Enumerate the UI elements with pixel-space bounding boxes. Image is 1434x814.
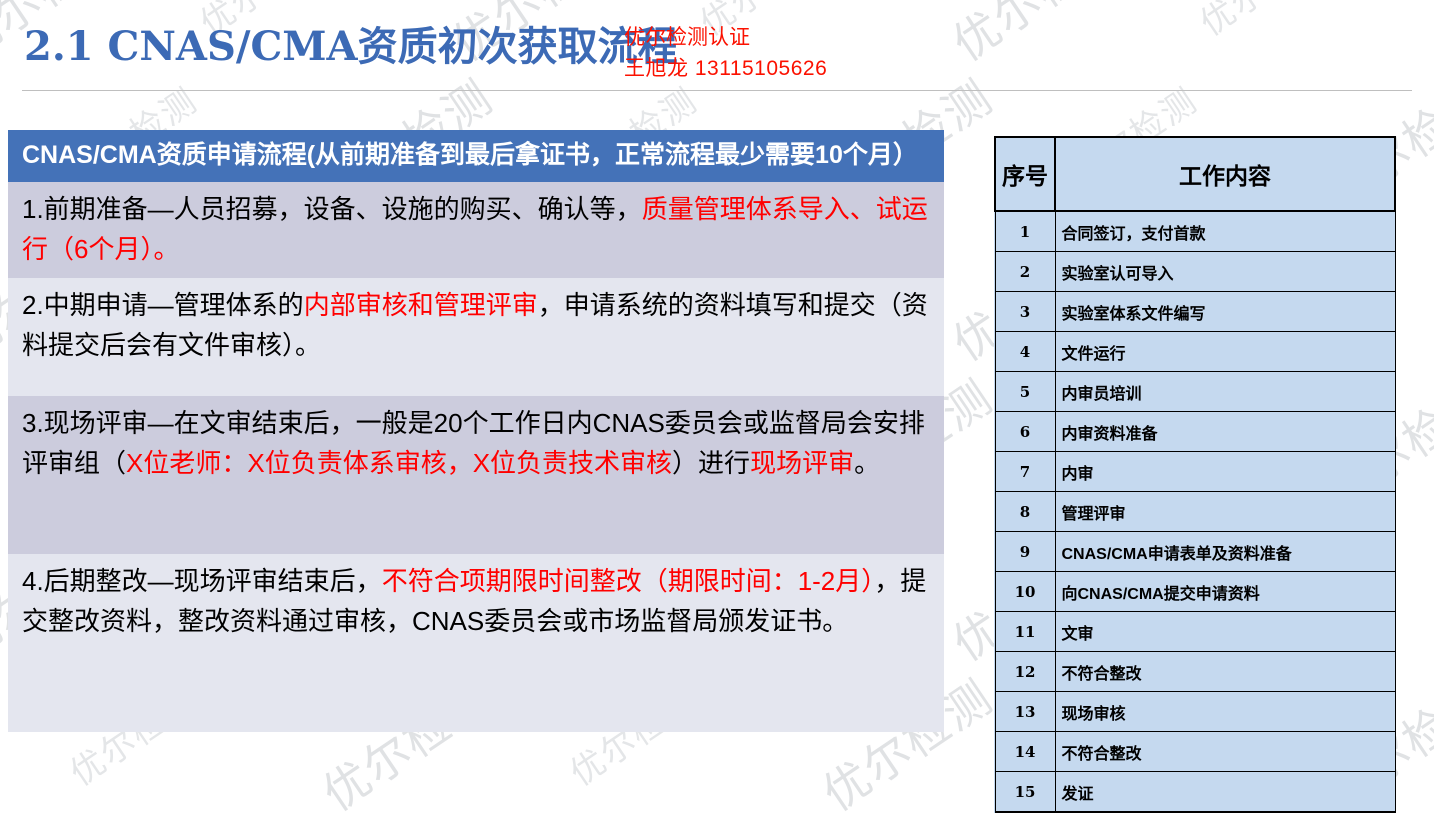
page-title: 2.1 CNAS/CMA资质初次获取流程: [24, 14, 678, 72]
table-cell-content: 向CNAS/CMA提交申请资料: [1055, 572, 1395, 612]
slide-page: 2.1 CNAS/CMA资质初次获取流程 优尔检测认证 王旭龙 13115105…: [0, 0, 1434, 814]
table-row: 15发证: [995, 772, 1395, 813]
table-row: 5内审员培训: [995, 372, 1395, 412]
table-cell-content: 现场审核: [1055, 692, 1395, 732]
table-cell-content: 文件运行: [1055, 332, 1395, 372]
slide-header: 2.1 CNAS/CMA资质初次获取流程 优尔检测认证 王旭龙 13115105…: [0, 0, 1434, 92]
table-cell-no: 9: [995, 532, 1055, 572]
table-cell-no: 13: [995, 692, 1055, 732]
table-cell-no: 5: [995, 372, 1055, 412]
table-header-content: 工作内容: [1055, 137, 1395, 211]
para-2-seg-0: 2.中期申请—管理体系的: [22, 290, 304, 320]
table-row: 9CNAS/CMA申请表单及资料准备: [995, 532, 1395, 572]
contact-person-phone: 王旭龙 13115105626: [624, 53, 827, 84]
table-header-no: 序号: [995, 137, 1055, 211]
para-1-seg-0: 1.前期准备—人员招募，设备、设施的购买、确认等，: [22, 194, 642, 224]
table-cell-content: 内审员培训: [1055, 372, 1395, 412]
table-cell-content: 发证: [1055, 772, 1395, 813]
para-4-seg-0: 4.后期整改—现场评审结束后，: [22, 566, 382, 596]
table-cell-no: 15: [995, 772, 1055, 813]
table-row: 7内审: [995, 452, 1395, 492]
work-content-table-wrap: 序号 工作内容 1合同签订，支付首款2实验室认可导入3实验室体系文件编写4文件运…: [994, 136, 1396, 813]
work-content-table: 序号 工作内容 1合同签订，支付首款2实验室认可导入3实验室体系文件编写4文件运…: [994, 136, 1396, 813]
table-row: 13现场审核: [995, 692, 1395, 732]
table-header-row: 序号 工作内容: [995, 137, 1395, 211]
process-banner: CNAS/CMA资质申请流程(从前期准备到最后拿证书，正常流程最少需要10个月）: [8, 130, 944, 182]
table-row: 3实验室体系文件编写: [995, 292, 1395, 332]
table-cell-no: 2: [995, 252, 1055, 292]
table-row: 6内审资料准备: [995, 412, 1395, 452]
table-cell-no: 11: [995, 612, 1055, 652]
table-cell-content: 不符合整改: [1055, 732, 1395, 772]
table-cell-no: 10: [995, 572, 1055, 612]
para-3-seg-4: 。: [854, 448, 880, 478]
table-row: 2实验室认可导入: [995, 252, 1395, 292]
table-cell-content: 管理评审: [1055, 492, 1395, 532]
para-3-seg-3: 现场评审: [750, 448, 854, 478]
process-step-1: 1.前期准备—人员招募，设备、设施的购买、确认等，质量管理体系导入、试运行（6个…: [8, 182, 944, 278]
table-row: 12不符合整改: [995, 652, 1395, 692]
process-step-3: 3.现场评审—在文审结束后，一般是20个工作日内CNAS委员会或监督局会安排评审…: [8, 396, 944, 554]
table-cell-no: 1: [995, 211, 1055, 252]
table-cell-no: 8: [995, 492, 1055, 532]
table-cell-no: 12: [995, 652, 1055, 692]
table-row: 8管理评审: [995, 492, 1395, 532]
table-cell-content: 合同签订，支付首款: [1055, 211, 1395, 252]
process-step-4: 4.后期整改—现场评审结束后，不符合项期限时间整改（期限时间：1-2月），提交整…: [8, 554, 944, 732]
header-divider: [22, 90, 1412, 91]
table-cell-content: 内审资料准备: [1055, 412, 1395, 452]
contact-info: 优尔检测认证 王旭龙 13115105626: [624, 22, 827, 84]
table-cell-no: 3: [995, 292, 1055, 332]
table-cell-content: 实验室认可导入: [1055, 252, 1395, 292]
process-content-column: CNAS/CMA资质申请流程(从前期准备到最后拿证书，正常流程最少需要10个月）…: [8, 130, 944, 732]
table-cell-no: 6: [995, 412, 1055, 452]
para-3-seg-1: X位老师：X位负责体系审核，X位负责技术审核: [126, 448, 672, 478]
para-3-seg-2: ）进行: [672, 448, 750, 478]
table-row: 10向CNAS/CMA提交申请资料: [995, 572, 1395, 612]
table-body: 1合同签订，支付首款2实验室认可导入3实验室体系文件编写4文件运行5内审员培训6…: [995, 211, 1395, 812]
table-row: 14不符合整改: [995, 732, 1395, 772]
table-row: 1合同签订，支付首款: [995, 211, 1395, 252]
table-cell-content: CNAS/CMA申请表单及资料准备: [1055, 532, 1395, 572]
para-4-seg-1: 不符合项期限时间整改（期限时间：1-2月）: [382, 566, 875, 596]
table-cell-no: 7: [995, 452, 1055, 492]
table-cell-no: 14: [995, 732, 1055, 772]
table-cell-content: 内审: [1055, 452, 1395, 492]
process-step-2: 2.中期申请—管理体系的内部审核和管理评审，申请系统的资料填写和提交（资料提交后…: [8, 278, 944, 396]
table-row: 11文审: [995, 612, 1395, 652]
contact-company: 优尔检测认证: [624, 22, 827, 53]
table-cell-no: 4: [995, 332, 1055, 372]
table-cell-content: 实验室体系文件编写: [1055, 292, 1395, 332]
para-2-seg-1: 内部审核和管理评审: [304, 290, 538, 320]
table-cell-content: 文审: [1055, 612, 1395, 652]
table-cell-content: 不符合整改: [1055, 652, 1395, 692]
table-row: 4文件运行: [995, 332, 1395, 372]
